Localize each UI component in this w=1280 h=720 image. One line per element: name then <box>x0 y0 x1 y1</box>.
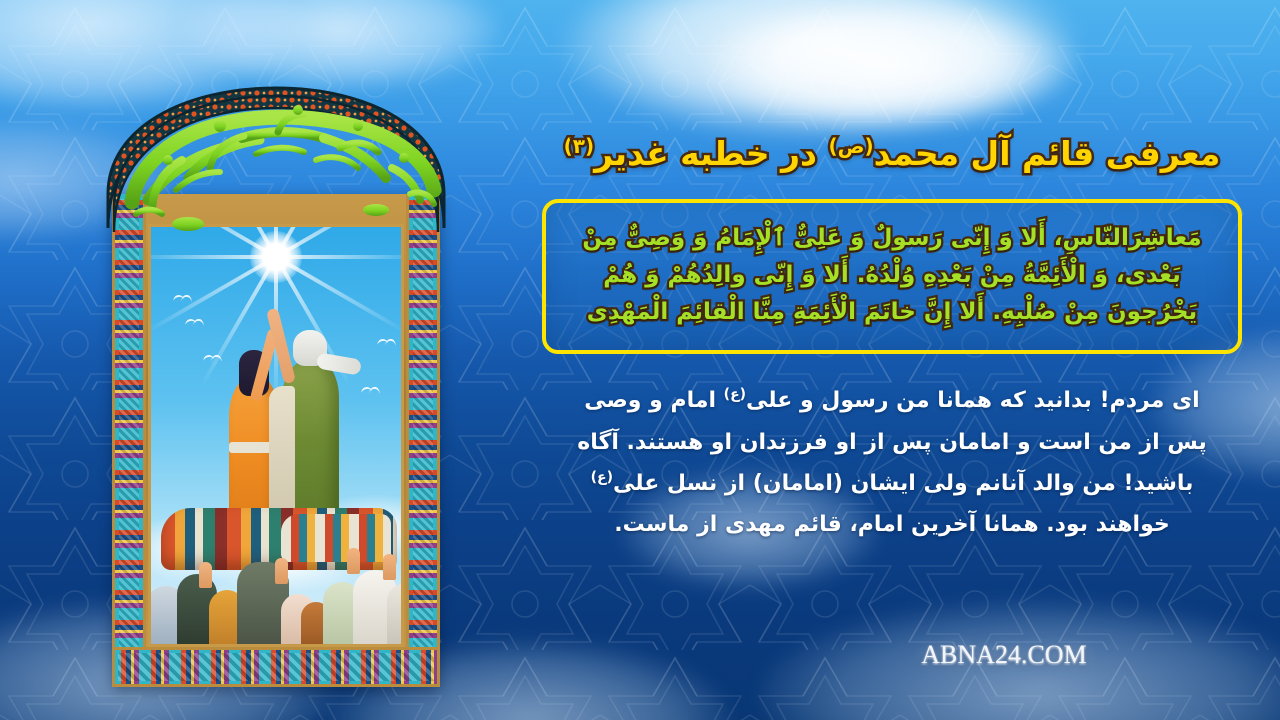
camel-second-blanket <box>281 514 391 562</box>
translation-line-1-tail: امام و وصی <box>584 388 723 413</box>
translation-line-1: ای مردم! بدانید که همانا من رسول و علی(ع… <box>542 380 1242 421</box>
arabic-hadith-box: مَعاشِرَالنّاسِ، أَلا وَ إِنّی رَسولٌ وَ… <box>542 199 1242 355</box>
illustration-picture <box>148 224 404 647</box>
cloud-top-right-2 <box>700 0 1080 130</box>
page-title-sup-sws: (ص) <box>828 134 873 158</box>
poster-canvas: معرفی قائم آل محمد(ص) در خطبه غدیر(۳) مَ… <box>0 0 1280 720</box>
raised-hand <box>199 562 212 588</box>
raised-hand <box>383 554 396 580</box>
crowd-person <box>387 584 404 644</box>
crowd-of-people <box>151 556 404 644</box>
bird-icon-5 <box>377 338 389 345</box>
translation-line-3-text: باشید! من والد آنانم ولی ایشان (امامان) … <box>613 471 1193 496</box>
ghadir-calligraphy-arch <box>92 82 460 252</box>
figure-scarf <box>316 352 362 375</box>
bird-icon-4 <box>361 386 373 393</box>
translation-line-4: خواهند بود. همانا آخرین امام، قائم مهدی … <box>542 504 1242 545</box>
figure-inner-robe <box>269 386 295 526</box>
page-title: معرفی قائم آل محمد(ص) در خطبه غدیر(۳) <box>542 132 1242 177</box>
persian-translation: ای مردم! بدانید که همانا من رسول و علی(ع… <box>542 380 1242 545</box>
frame-column-right <box>406 194 440 687</box>
bird-icon-3 <box>203 354 215 361</box>
translation-line-1-sup: (ع) <box>724 387 746 403</box>
page-title-mid: در خطبه غدیر <box>594 134 828 173</box>
translation-line-3-sup: (ع) <box>591 470 613 486</box>
figure-prophet-muhammad <box>281 360 339 526</box>
bird-icon-2 <box>185 318 197 325</box>
translation-line-1-text: ای مردم! بدانید که همانا من رسول و علی <box>746 388 1200 413</box>
cloud-top-mid <box>180 0 500 90</box>
page-title-main: معرفی قائم آل محمد <box>874 134 1221 173</box>
translation-line-2: پس از من است و امامان پس از او فرزندان ا… <box>542 422 1242 463</box>
hadith-line-1: مَعاشِرَالنّاسِ، أَلا وَ إِنّی رَسولٌ وَ… <box>566 220 1218 257</box>
site-watermark: ABNA24.COM <box>824 640 1184 670</box>
cloud-top-right <box>560 0 1080 140</box>
content-column: معرفی قائم آل محمد(ص) در خطبه غدیر(۳) مَ… <box>542 132 1242 546</box>
frame-bottom-band <box>112 647 440 687</box>
hadith-line-2: بَعْدی، وَ الْأَئِمَّةُ مِنْ بَعْدِهِ وُ… <box>566 257 1218 294</box>
page-title-sup-part: (۳) <box>564 134 595 158</box>
frame-column-left <box>112 194 146 687</box>
hadith-line-3: یَخْرُجونَ مِنْ صُلْبِهِ. أَلا إِنَّ خات… <box>566 294 1218 331</box>
translation-line-3: باشید! من والد آنانم ولی ایشان (امامان) … <box>542 463 1242 504</box>
raised-hand <box>275 558 288 584</box>
bird-icon-1 <box>173 294 185 301</box>
raised-hand <box>347 548 360 574</box>
ghadir-illustration <box>92 82 460 607</box>
